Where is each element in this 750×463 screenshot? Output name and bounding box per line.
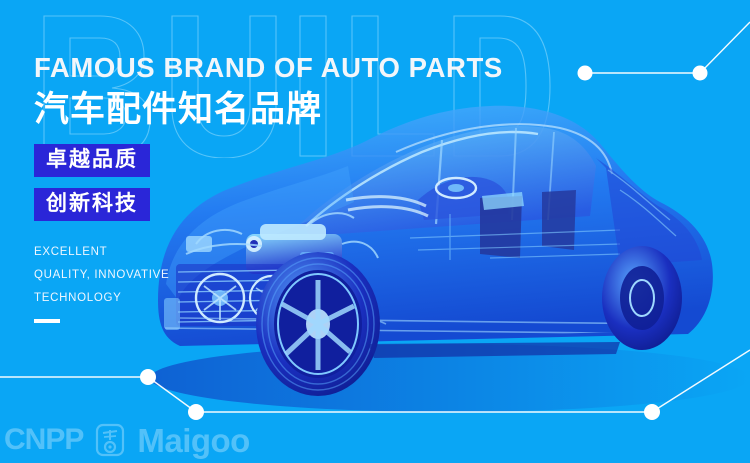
maigoo-wordmark: Maigoo <box>137 424 249 457</box>
badge-quality: 卓越品质 <box>34 144 150 177</box>
node-bottom-left <box>140 369 156 385</box>
subcopy-block: EXCELLENT QUALITY, INNOVATIVE TECHNOLOGY <box>34 241 594 310</box>
subcopy-line-1: EXCELLENT <box>34 241 594 264</box>
accent-rule <box>34 319 60 323</box>
badge-list: 卓越品质 创新科技 <box>34 144 594 221</box>
subcopy-line-2: QUALITY, INNOVATIVE <box>34 264 594 287</box>
headline-english: FAMOUS BRAND OF AUTO PARTS <box>34 54 594 82</box>
maigoo-brand-mark <box>93 423 127 457</box>
cnpp-wordmark: CNPP <box>4 425 83 455</box>
rear-wheel <box>602 246 682 350</box>
subcopy-line-3: TECHNOLOGY <box>34 287 594 310</box>
logo-watermark: CNPP Maigoo <box>4 423 250 457</box>
badge-technology: 创新科技 <box>34 188 150 221</box>
copy-block: FAMOUS BRAND OF AUTO PARTS 汽车配件知名品牌 卓越品质… <box>34 54 594 323</box>
node-bottom-mid <box>188 404 204 420</box>
headline-chinese: 汽车配件知名品牌 <box>34 92 594 129</box>
auto-parts-banner: FAMOUS BRAND OF AUTO PARTS 汽车配件知名品牌 卓越品质… <box>0 0 750 463</box>
badge-row-1: 卓越品质 <box>34 144 594 177</box>
node-top-middle <box>693 66 708 81</box>
badge-row-2: 创新科技 <box>34 188 594 221</box>
node-bottom-right <box>644 404 660 420</box>
